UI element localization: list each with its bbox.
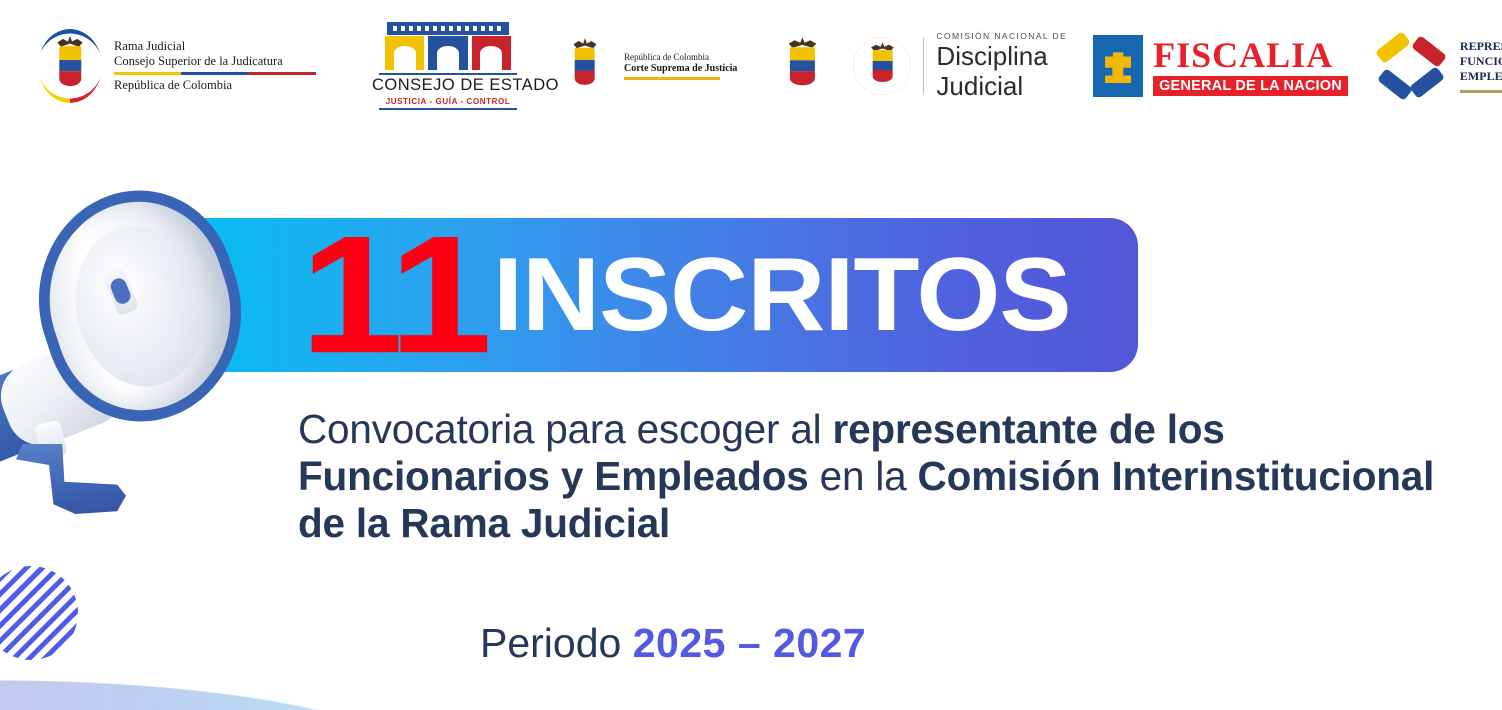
arch-building-icon — [379, 22, 517, 72]
divider — [923, 38, 924, 94]
megaphone-icon — [0, 186, 282, 516]
corte-suprema-shield-icon — [556, 32, 614, 100]
joined-hands-icon — [1372, 30, 1448, 102]
inscritos-count: 11 — [300, 228, 488, 362]
tricolor-rule — [114, 72, 316, 75]
period-years: 2025 – 2027 — [633, 620, 867, 666]
corte-suprema-line1: República de Colombia — [624, 52, 737, 62]
logo-rama-judicial: Rama Judicial Consejo Superior de la Jud… — [38, 29, 316, 103]
puzzle-piece-icon — [1093, 35, 1143, 97]
rama-judicial-line1: Rama Judicial — [114, 39, 316, 54]
logo-representante-funcionarios: REPRESENTANTE DE FUNCIONARIOS Y EMPLEADO… — [1372, 30, 1502, 102]
disciplina-line2: Judicial — [936, 71, 1067, 101]
fiscalia-title: FISCALIA — [1153, 36, 1348, 74]
corte-suprema-line2: Corte Suprema de Justicia — [624, 63, 737, 74]
institutional-logo-strip: Rama Judicial Consejo Superior de la Jud… — [0, 0, 1502, 132]
colombia-shield-icon — [38, 29, 102, 103]
inscritos-label: INSCRITOS — [493, 243, 1071, 347]
period-line: Periodo 2025 – 2027 — [480, 618, 866, 668]
disciplina-line1: Disciplina — [936, 41, 1067, 71]
poster-canvas: Rama Judicial Consejo Superior de la Jud… — [0, 0, 1502, 710]
logo-corte-suprema: República de Colombia Corte Suprema de J… — [556, 32, 737, 100]
consejo-de-estado-title: CONSEJO DE ESTADO — [372, 76, 524, 95]
disciplina-eyebrow: COMISIÓN NACIONAL DE — [936, 31, 1067, 41]
logo-consejo-de-estado: CONSEJO DE ESTADO JUSTICIA - GUÍA - CONT… — [372, 22, 524, 110]
representante-line1: REPRESENTANTE DE — [1460, 39, 1502, 54]
logo-disciplina-judicial: COMISIÓN NACIONAL DE Disciplina Judicial — [853, 31, 1067, 101]
fiscalia-subtitle: GENERAL DE LA NACION — [1153, 76, 1348, 96]
headline-part1: Convocatoria para escoger al — [298, 406, 833, 452]
representante-line2: FUNCIONARIOS Y — [1460, 54, 1502, 69]
logo-fiscalia: FISCALIA GENERAL DE LA NACION — [1093, 35, 1348, 97]
wave-shape — [0, 590, 520, 710]
rama-judicial-line3: República de Colombia — [114, 78, 316, 93]
page-title: Convocatoria para escoger al representan… — [298, 406, 1448, 547]
rama-judicial-line2: Consejo Superior de la Judicatura — [114, 54, 316, 69]
corte-constitucional-seal-icon — [767, 31, 837, 101]
representante-line3: EMPLEADOS JUDICIALES — [1460, 69, 1502, 84]
headline-part2: en la — [809, 453, 918, 499]
disciplina-judicial-seal-icon — [853, 37, 911, 95]
logo-corte-constitucional — [767, 31, 837, 101]
period-label: Periodo — [480, 620, 621, 666]
consejo-de-estado-subtitle: JUSTICIA - GUÍA - CONTROL — [372, 97, 524, 106]
